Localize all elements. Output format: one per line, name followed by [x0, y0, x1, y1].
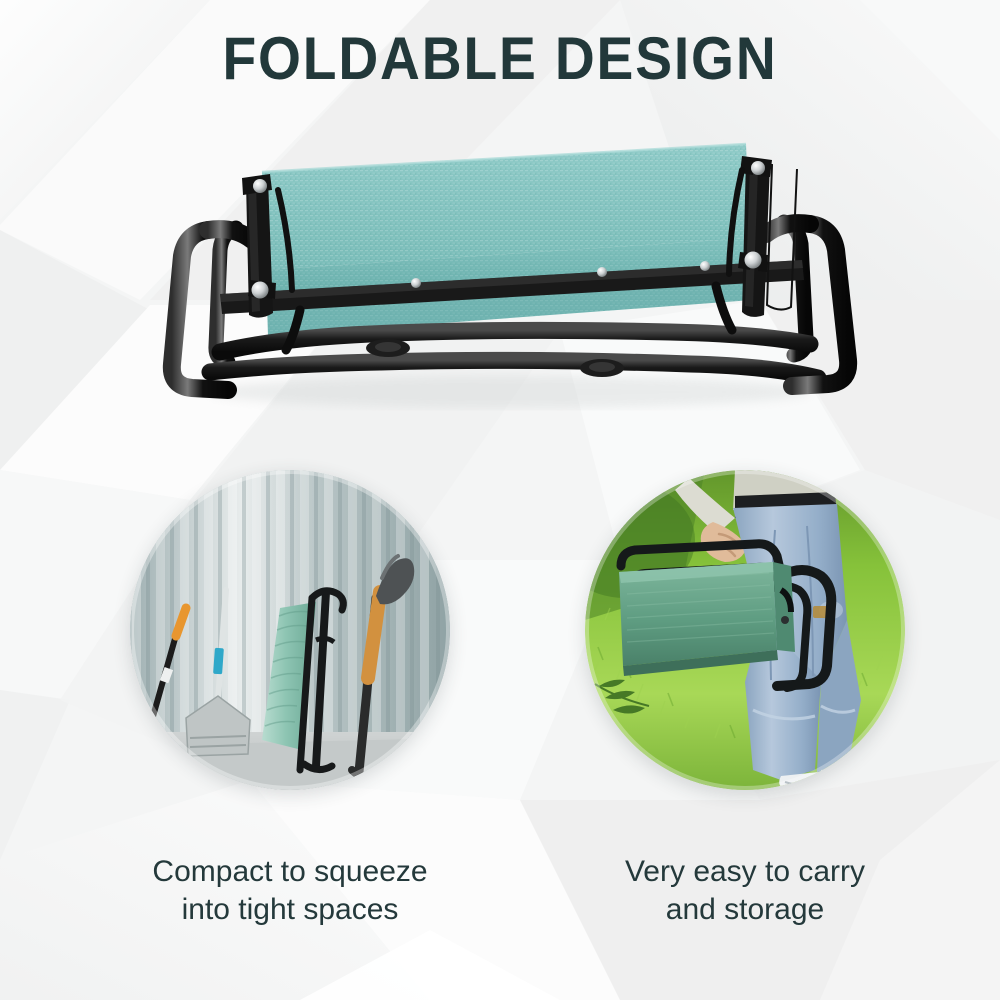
- page-title: FOLDABLE DESIGN: [40, 24, 960, 93]
- feature-caption-easy-carry: Very easy to carry and storage: [535, 853, 955, 929]
- feature-photo-easy-carry: [585, 470, 905, 790]
- feature-caption-compact-storage: Compact to squeeze into tight spaces: [80, 853, 500, 929]
- caption-line-2: into tight spaces: [80, 891, 500, 929]
- hero-product-image: [150, 120, 870, 420]
- feature-photo-compact-storage: [130, 470, 450, 790]
- caption-line-1: Very easy to carry: [625, 855, 865, 888]
- product-infographic: FOLDABLE DESIGN: [0, 0, 1000, 1000]
- caption-line-2: and storage: [535, 891, 955, 929]
- caption-line-1: Compact to squeeze: [152, 855, 427, 888]
